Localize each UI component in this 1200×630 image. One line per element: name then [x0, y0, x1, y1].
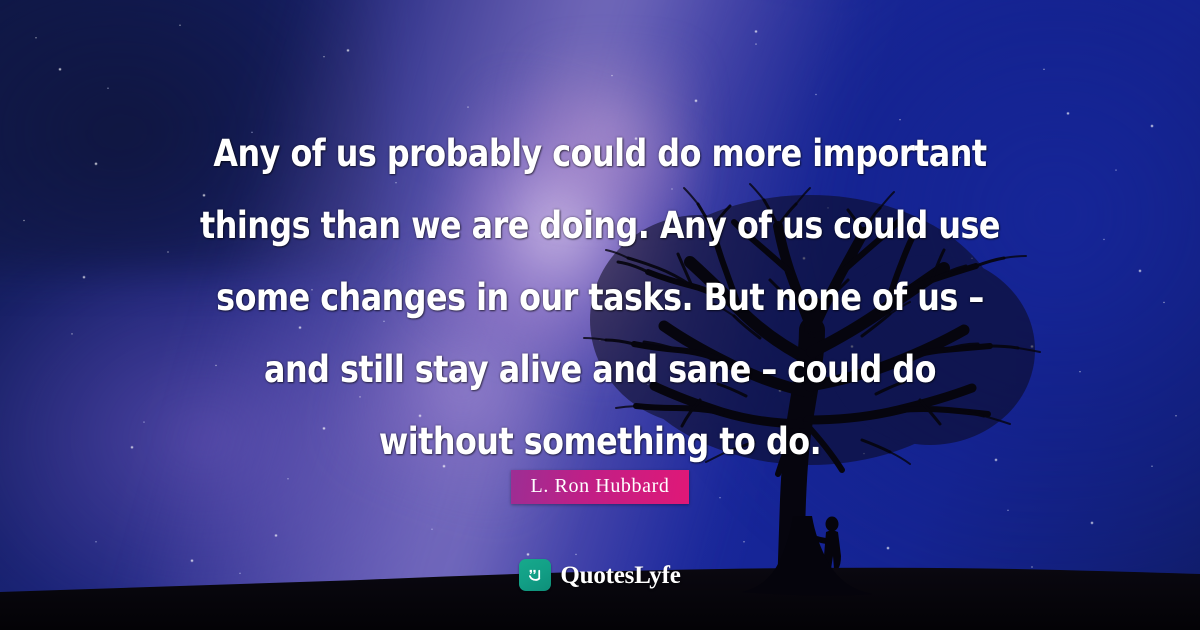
- quote-line: some changes in our tasks. But none of u…: [187, 262, 1013, 334]
- brand-name: QuotesLyfe: [560, 563, 680, 588]
- brand-logo: QuotesLyfe: [0, 559, 1200, 591]
- quote-card: Any of us probably could do more importa…: [0, 0, 1200, 630]
- quote-line: Any of us probably could do more importa…: [187, 118, 1013, 190]
- author-name-badge: L. Ron Hubbard: [511, 470, 690, 504]
- quote-smiley-icon: [519, 559, 551, 591]
- quote-line: and still stay alive and sane – could do: [187, 334, 1013, 406]
- quote-line: without something to do.: [187, 406, 1013, 478]
- quote-text-block: Any of us probably could do more importa…: [0, 118, 1200, 478]
- quote-line: things than we are doing. Any of us coul…: [187, 190, 1013, 262]
- author-badge-row: L. Ron Hubbard: [0, 470, 1200, 504]
